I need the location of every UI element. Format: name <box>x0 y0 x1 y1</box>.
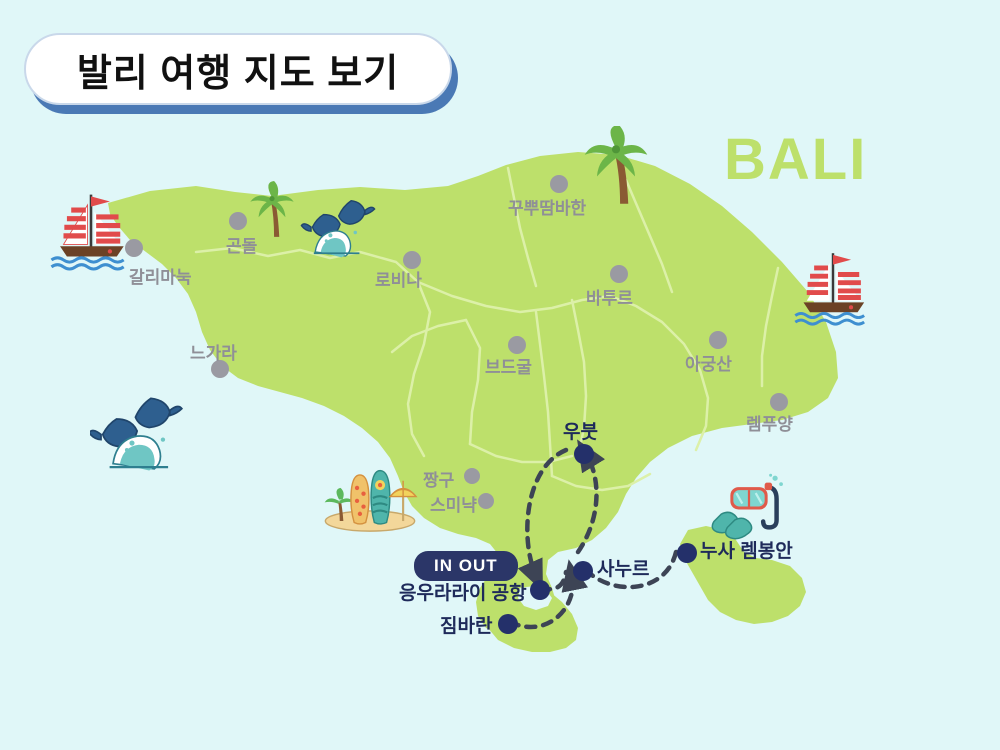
route-stop-label-sanur: 사누르 <box>597 554 649 581</box>
place-label-kubutambahan: 꾸뿌땀바한 <box>508 194 586 219</box>
place-label-lempuyang: 렘푸양 <box>746 410 793 435</box>
route-stop-dot-ubud[interactable] <box>574 444 594 464</box>
place-dot <box>610 265 628 283</box>
route-stop-dot-ngurah-rai-airport[interactable] <box>530 580 550 600</box>
place-label-batur: 바투르 <box>586 284 633 309</box>
route-stop-label-ngurah-rai-airport: 응우라라이 공항 <box>399 578 527 605</box>
route-stop-label-ubud: 우붓 <box>563 417 598 444</box>
place-dot <box>709 331 727 349</box>
place-label-bedugul: 브드굴 <box>485 353 532 378</box>
place-label-canggu: 짱구 <box>423 466 454 491</box>
place-label-lovina: 로비나 <box>375 266 422 291</box>
page-title: 발리 여행 지도 보기 <box>77 42 399 97</box>
route-stop-dot-jimbaran[interactable] <box>498 614 518 634</box>
place-label-gilimanuk: 갈리마눅 <box>129 263 192 288</box>
place-dot <box>478 493 494 509</box>
place-dot <box>125 239 143 257</box>
route-stop-dot-nusa-lembongan[interactable] <box>677 543 697 563</box>
place-dot <box>464 468 480 484</box>
title-button[interactable]: 발리 여행 지도 보기 <box>24 33 452 105</box>
sailboat-icon <box>792 245 874 327</box>
place-dot <box>770 393 788 411</box>
palm-tree-icon <box>582 126 650 208</box>
place-label-agung: 아궁산 <box>685 350 732 375</box>
route-stop-label-nusa-lembongan: 누사 렘봉안 <box>700 536 793 563</box>
route-stop-label-jimbaran: 짐바란 <box>440 611 492 638</box>
place-dot <box>229 212 247 230</box>
place-label-gondol: 곤돌 <box>226 232 257 257</box>
sailboat-icon <box>48 186 134 272</box>
place-dot <box>550 175 568 193</box>
place-label-negara: 느가라 <box>190 339 237 364</box>
surfboard-beach-icon <box>318 462 422 534</box>
in-out-badge: IN OUT <box>414 551 518 581</box>
bali-wordmark: BALI <box>724 131 867 189</box>
route-stop-dot-sanur[interactable] <box>573 561 593 581</box>
dolphins-wave-icon <box>90 388 186 474</box>
dolphins-wave-icon <box>300 192 376 262</box>
place-dot <box>508 336 526 354</box>
place-label-seminyak: 스미냑 <box>430 491 477 516</box>
bali-travel-map: 발리 여행 지도 보기 BALI <box>0 0 1000 750</box>
